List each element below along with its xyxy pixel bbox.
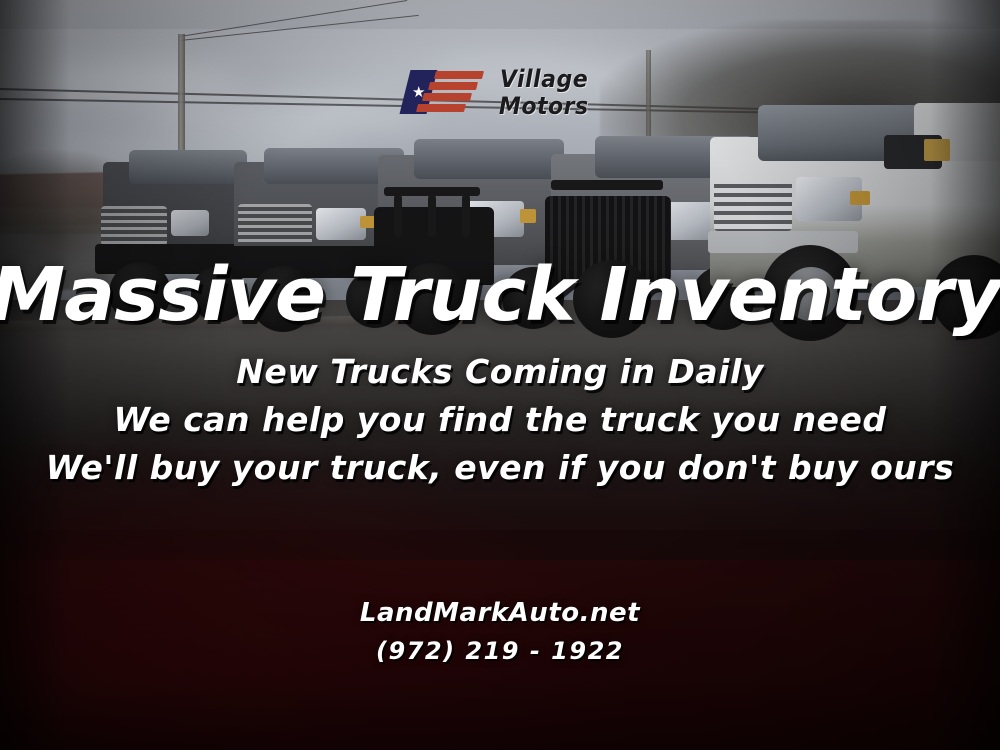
phone-number[interactable]: (972) 219 - 1922: [0, 637, 1000, 665]
subheading-2: We can help you find the truck you need: [0, 400, 1000, 439]
texas-flag-stripes-icon: ★: [405, 68, 487, 116]
flag-stripe: [428, 82, 478, 90]
logo-line-village: Village: [500, 67, 588, 91]
website-url[interactable]: LandMarkAuto.net: [0, 598, 1000, 628]
logo-wordmark: Village Motors: [495, 67, 592, 118]
flag-stripe: [422, 93, 472, 101]
headline: Massive Truck Inventory!: [0, 252, 1000, 338]
truck-dealership-banner: ★ Village Motors Massive Truck Inventory…: [0, 0, 1000, 750]
flag-stripe: [434, 71, 484, 79]
subheading-3: We'll buy your truck, even if you don't …: [0, 448, 1000, 487]
village-motors-logo[interactable]: ★ Village Motors: [405, 64, 601, 120]
flag-stripe: [416, 104, 466, 112]
logo-line-motors: Motors: [499, 94, 589, 118]
subheading-1: New Trucks Coming in Daily: [0, 352, 1000, 391]
